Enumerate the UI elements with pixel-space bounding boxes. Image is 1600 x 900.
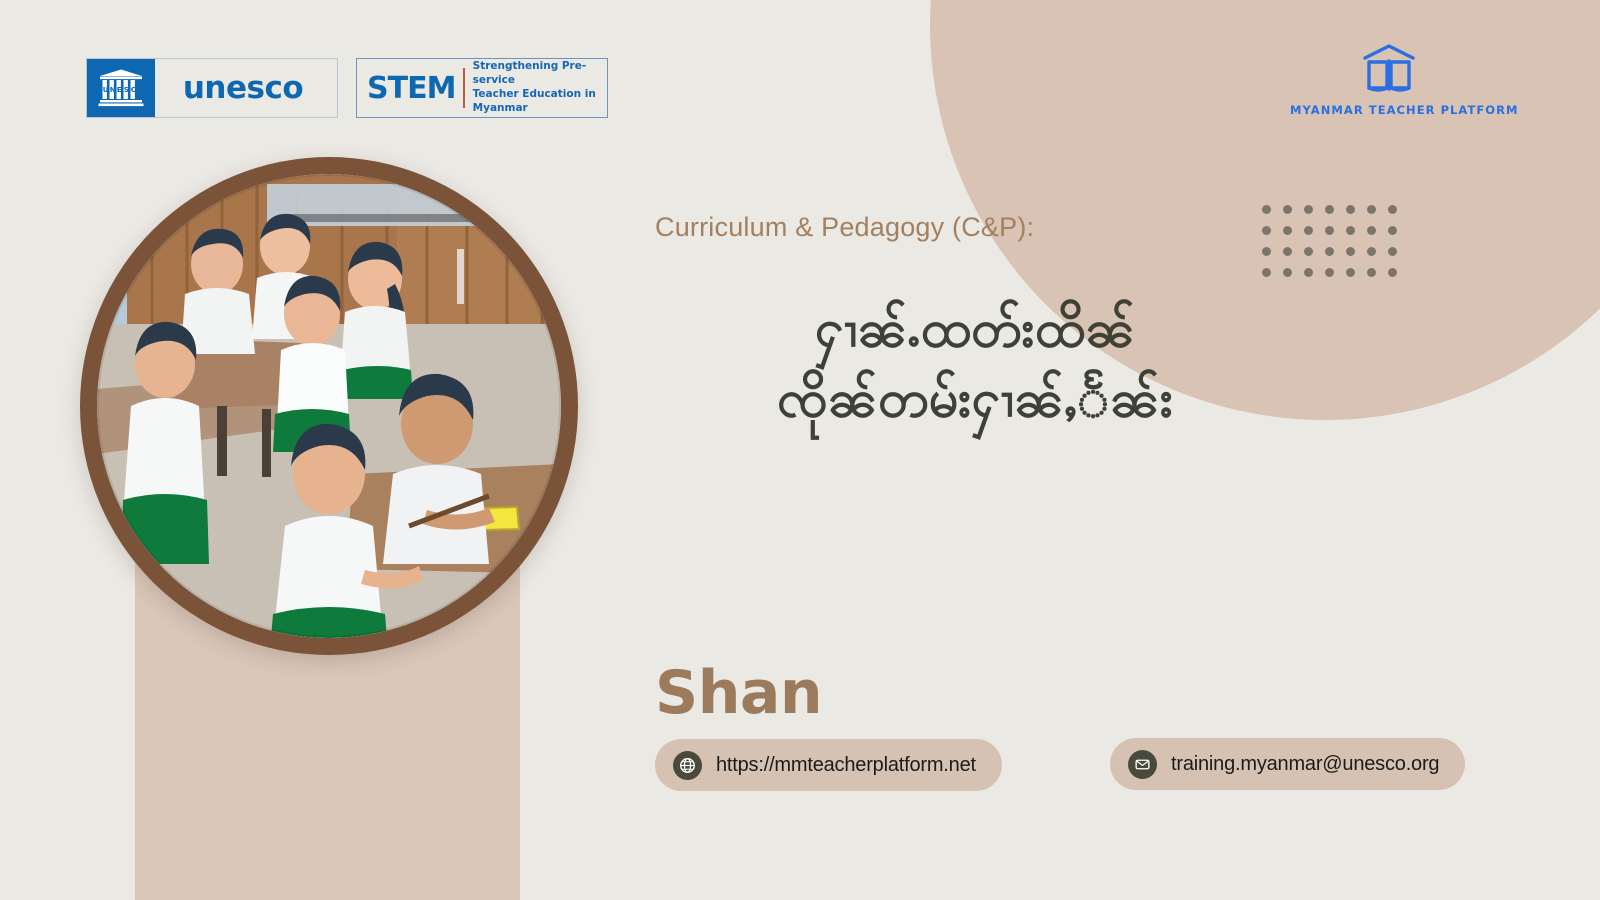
photo-ring <box>80 157 578 655</box>
decorative-dot-grid <box>1262 205 1409 289</box>
decorative-dot <box>1304 205 1313 214</box>
unesco-wordmark: unesco <box>155 70 337 106</box>
decorative-dot <box>1367 268 1376 277</box>
decorative-dot <box>1325 205 1334 214</box>
stem-tagline: Strengthening Pre-service Teacher Educat… <box>473 60 601 116</box>
decorative-dot <box>1325 226 1334 235</box>
decorative-dot <box>1388 205 1397 214</box>
eyebrow-label: Curriculum & Pedagogy (C&P): <box>655 212 1034 243</box>
decorative-dot <box>1346 226 1355 235</box>
stem-wordmark: STEM <box>367 71 455 106</box>
decorative-dot <box>1283 205 1292 214</box>
svg-text:E: E <box>117 86 122 94</box>
svg-text:N: N <box>110 86 116 94</box>
decorative-dot <box>1283 268 1292 277</box>
decorative-dot <box>1262 205 1271 214</box>
decorative-dot <box>1304 226 1313 235</box>
stem-tagline-line-2: Teacher Education in <box>473 88 596 100</box>
stem-tagline-line-3: Myanmar <box>473 102 528 114</box>
envelope-icon <box>1128 750 1157 779</box>
decorative-dot <box>1304 268 1313 277</box>
decorative-dot <box>1262 247 1271 256</box>
svg-text:U: U <box>103 86 109 94</box>
unesco-temple-icon: UN ES C <box>87 59 155 117</box>
page-title: ႁၢၼ်ႉထတ်းထိၼ် ၸိုၼ်တမ်းႁၢၼ်ႇႅၼ်း <box>655 295 1295 434</box>
decorative-dot <box>1262 226 1271 235</box>
presentation-slide: UN ES C unesco STEM Strengthening Pre-se… <box>0 0 1600 900</box>
myanmar-teacher-platform-logo: MYANMAR TEACHER PLATFORM <box>1290 42 1488 117</box>
decorative-dot <box>1388 268 1397 277</box>
website-pill[interactable]: https://mmteacherplatform.net <box>655 739 1002 791</box>
email-address: training.myanmar@unesco.org <box>1171 753 1439 776</box>
decorative-dot <box>1388 247 1397 256</box>
decorative-dot <box>1283 247 1292 256</box>
classroom-photo <box>97 174 561 638</box>
svg-text:C: C <box>131 86 136 94</box>
decorative-dot <box>1325 247 1334 256</box>
decorative-dot <box>1262 268 1271 277</box>
decorative-dot <box>1346 205 1355 214</box>
decorative-dot <box>1388 226 1397 235</box>
platform-name: MYANMAR TEACHER PLATFORM <box>1290 103 1488 117</box>
title-line-2: ၸိုၼ်တမ်းႁၢၼ်ႇႅၼ်း <box>655 365 1295 435</box>
stem-divider <box>463 68 464 108</box>
website-url: https://mmteacherplatform.net <box>716 754 976 777</box>
logo-row: UN ES C unesco STEM Strengthening Pre-se… <box>86 58 608 118</box>
email-pill[interactable]: training.myanmar@unesco.org <box>1110 738 1465 790</box>
stem-tagline-line-1: Strengthening Pre-service <box>473 60 587 86</box>
open-book-house-icon <box>1359 42 1419 94</box>
region-label: Shan <box>655 658 822 728</box>
decorative-dot <box>1283 226 1292 235</box>
decorative-dot <box>1367 205 1376 214</box>
svg-text:S: S <box>124 86 129 94</box>
decorative-dot <box>1304 247 1313 256</box>
globe-icon <box>673 751 702 780</box>
decorative-dot <box>1367 247 1376 256</box>
decorative-dot <box>1325 268 1334 277</box>
decorative-dot <box>1346 268 1355 277</box>
stem-logo: STEM Strengthening Pre-service Teacher E… <box>356 58 608 118</box>
decorative-dot <box>1367 226 1376 235</box>
decorative-dot <box>1346 247 1355 256</box>
unesco-logo: UN ES C unesco <box>86 58 338 118</box>
title-line-1: ႁၢၼ်ႉထတ်းထိၼ် <box>655 295 1295 365</box>
